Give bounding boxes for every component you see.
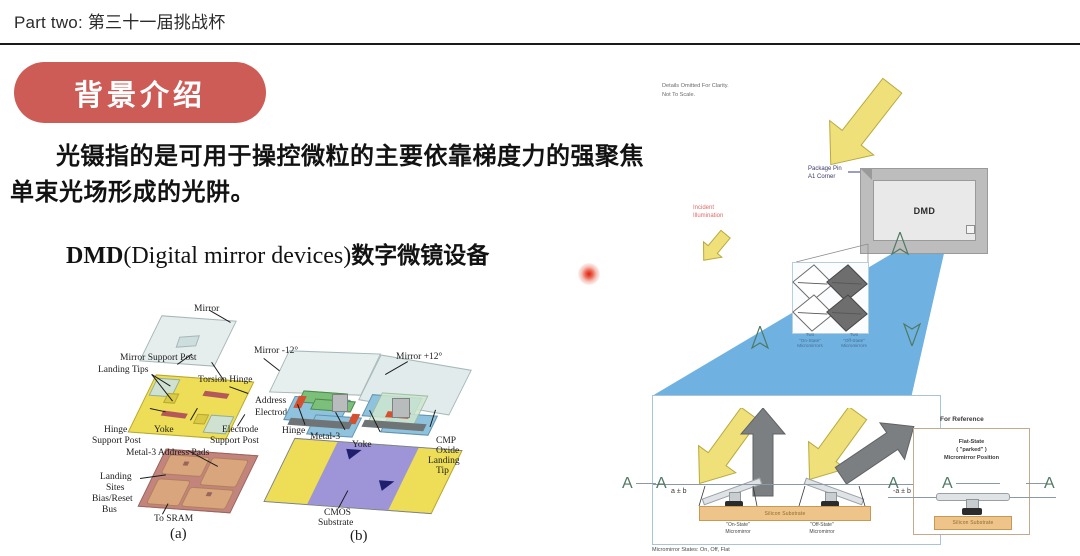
label-tip-b: Tip bbox=[436, 466, 449, 477]
header-divider bbox=[0, 43, 1080, 45]
label-package-pin: Package Pin A1 Corner bbox=[808, 165, 842, 181]
figure-caption-b: (b) bbox=[350, 528, 368, 545]
silicon-substrate-states: Silicon Substrate bbox=[699, 506, 871, 521]
metal3-pad bbox=[180, 487, 234, 510]
leader-line bbox=[429, 410, 436, 427]
figure-dmd-pixel-pair: Mirror -12° Mirror +12° Hinge Metal-3 Yo… bbox=[258, 340, 488, 550]
silicon-substrate-label: Silicon Substrate bbox=[765, 511, 806, 517]
slide-root: Part two: 第三十一届挑战杯 背景介绍 光镊指的是可用于操控微粒的主要依… bbox=[0, 0, 1080, 556]
paragraph-text: 光镊指的是可用于操控微粒的主要依靠梯度力的强聚焦单束光场形成的光阱。 bbox=[10, 142, 644, 206]
micromirror-states-box: a ± b -a ± b Silicon Substrate "On-State… bbox=[652, 395, 941, 545]
label-incident-illumination: Incident Illumination bbox=[693, 205, 723, 221]
label-mirror-plus12: Mirror +12° bbox=[396, 352, 442, 363]
caption-off-state-mirrors: Two "Off-State" Micromirrors bbox=[828, 332, 880, 349]
figure-b-labels: Mirror -12° Mirror +12° Hinge Metal-3 Yo… bbox=[258, 340, 488, 550]
label-hinge-support-post: Support Post bbox=[92, 436, 141, 447]
section-marker-a-inner: A bbox=[888, 475, 899, 493]
section-banner-label: 背景介绍 bbox=[74, 72, 206, 114]
direction-arrow-1-svg bbox=[890, 232, 912, 258]
micromirror-off bbox=[826, 294, 868, 332]
section-line-stub-mid bbox=[956, 483, 1000, 484]
figure-caption-a: (a) bbox=[170, 526, 187, 543]
section-line-stub-right bbox=[1026, 483, 1046, 484]
leader-line bbox=[338, 490, 348, 508]
torsion-hinge-a2 bbox=[202, 391, 229, 399]
label-landing: Landing bbox=[100, 472, 132, 483]
dmd-chinese: 数字微镜设备 bbox=[351, 243, 489, 269]
label-electrode-2: Electrode bbox=[222, 425, 258, 436]
section-banner: 背景介绍 bbox=[14, 62, 266, 123]
label-electrode-support-post: Support Post bbox=[210, 436, 259, 447]
caption-micromirror-states: Micromirror States: On, Off, Flat bbox=[652, 547, 730, 553]
label-torsion-hinge: Torsion Hinge bbox=[198, 375, 252, 386]
label-mirror-support-post: Mirror Support Post bbox=[120, 353, 197, 364]
section-marker-a-outer-left: A bbox=[622, 475, 633, 493]
label-to-sram: To SRAM bbox=[154, 514, 193, 525]
direction-arrow-3-svg bbox=[750, 326, 772, 352]
header-title-cn: 第三十一届挑战杯 bbox=[88, 13, 226, 32]
section-line-stub-left bbox=[636, 483, 656, 484]
dmd-term: DMD bbox=[66, 243, 123, 269]
section-marker-a-left: A bbox=[656, 475, 667, 493]
label-bias-reset: Bias/Reset bbox=[92, 494, 133, 505]
dmd-definition-line: DMD(Digital mirror devices)数字微镜设备 bbox=[66, 236, 666, 270]
body-paragraph: 光镊指的是可用于操控微粒的主要依靠梯度力的强聚焦单束光场形成的光阱。 bbox=[10, 138, 650, 210]
leader-line bbox=[263, 358, 279, 371]
label-substrate: Substrate bbox=[318, 518, 353, 529]
note-details-omitted: Details Omitted For Clarity. Not To Scal… bbox=[662, 82, 729, 100]
silicon-substrate-label-ref: Silicon Substrate bbox=[953, 520, 994, 526]
label-yoke-b: Yoke bbox=[352, 440, 372, 451]
figure-dmd-optical-path: Details Omitted For Clarity. Not To Scal… bbox=[640, 50, 1080, 556]
direction-arrow-2-svg bbox=[902, 320, 924, 346]
silicon-substrate-reference: Silicon Substrate bbox=[934, 516, 1012, 530]
label-bus: Bus bbox=[102, 505, 117, 516]
header-prefix: Part two: bbox=[14, 13, 88, 32]
label-yoke: Yoke bbox=[154, 425, 174, 436]
laser-pointer-dot bbox=[578, 263, 600, 285]
section-marker-a-right: A bbox=[1044, 475, 1055, 493]
caption-on-state-micromirror: "On-State" Micromirror bbox=[709, 522, 767, 535]
leader-line bbox=[369, 410, 380, 432]
label-hinge-b: Hinge bbox=[282, 426, 305, 437]
label-mirror: Mirror bbox=[194, 304, 219, 315]
label-mirror-minus12: Mirror -12° bbox=[254, 346, 298, 357]
label-hinge: Hinge bbox=[104, 425, 127, 436]
flat-state-mirror-base bbox=[962, 508, 982, 515]
reference-title: For Reference bbox=[940, 416, 984, 423]
label-metal3-address-pads: Metal-3 Address Pads bbox=[126, 448, 209, 459]
leader-line bbox=[385, 361, 408, 375]
caption-off-state-micromirror: "Off-State" Micromirror bbox=[793, 522, 851, 535]
section-marker-a-mid: A bbox=[942, 475, 953, 493]
dmd-expansion: (Digital mirror devices) bbox=[123, 243, 351, 269]
reference-box: Flat-State ( "parked" ) Micromirror Posi… bbox=[913, 428, 1030, 535]
leader-line bbox=[297, 404, 305, 425]
micromirror-inset bbox=[792, 262, 869, 334]
label-landing-tips: Landing Tips bbox=[98, 365, 148, 376]
label-sites: Sites bbox=[106, 483, 124, 494]
slide-header: Part two: 第三十一届挑战杯 bbox=[14, 8, 225, 33]
incident-arrow-small-svg bbox=[692, 228, 738, 268]
reference-text: Flat-State ( "parked" ) Micromirror Posi… bbox=[922, 439, 1021, 462]
a1-corner-marker bbox=[861, 169, 872, 180]
label-metal3-b: Metal-3 bbox=[310, 432, 340, 443]
leader-line bbox=[335, 412, 345, 430]
